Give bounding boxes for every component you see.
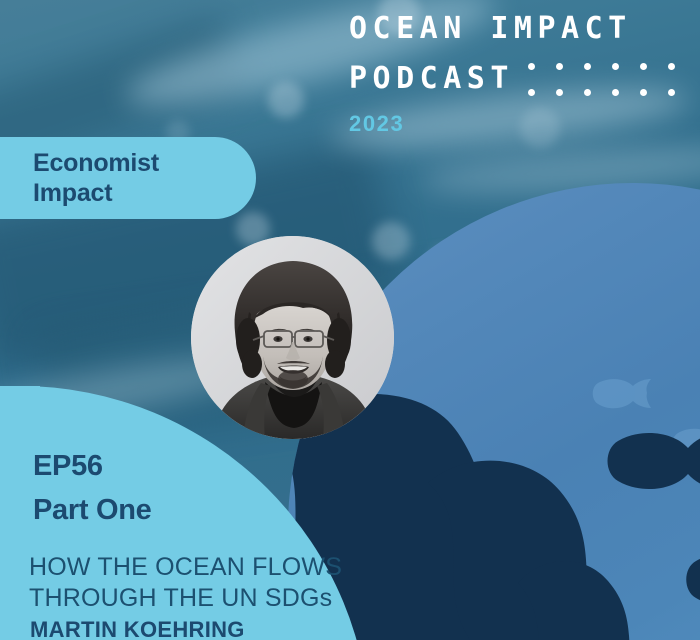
- episode-number: EP56: [33, 444, 151, 488]
- speaker-name: MARTIN KOEHRING: [30, 617, 245, 640]
- headline-line-1: HOW THE OCEAN FLOWS: [29, 552, 342, 583]
- episode-headline: HOW THE OCEAN FLOWS THROUGH THE UN SDGs: [29, 552, 342, 614]
- podcast-title-line-2: PODCAST: [349, 56, 514, 101]
- headline-line-2: THROUGH THE UN SDGs: [29, 583, 342, 614]
- badge-line-2: Impact: [33, 178, 256, 208]
- podcast-title-block: OCEAN IMPACT PODCAST 2023: [349, 6, 696, 137]
- podcast-cover: Economist Impact OCEAN IMPACT PODCAST 20…: [0, 0, 700, 640]
- episode-number-block: EP56 Part One: [33, 444, 151, 532]
- dot-grid-decoration: [528, 53, 696, 105]
- podcast-title-line-1: OCEAN IMPACT: [349, 6, 696, 51]
- episode-part: Part One: [33, 488, 151, 532]
- podcast-year: 2023: [349, 111, 696, 137]
- guest-portrait-avatar: [191, 236, 394, 439]
- badge-line-1: Economist: [33, 148, 256, 178]
- economist-impact-badge[interactable]: Economist Impact: [0, 137, 256, 219]
